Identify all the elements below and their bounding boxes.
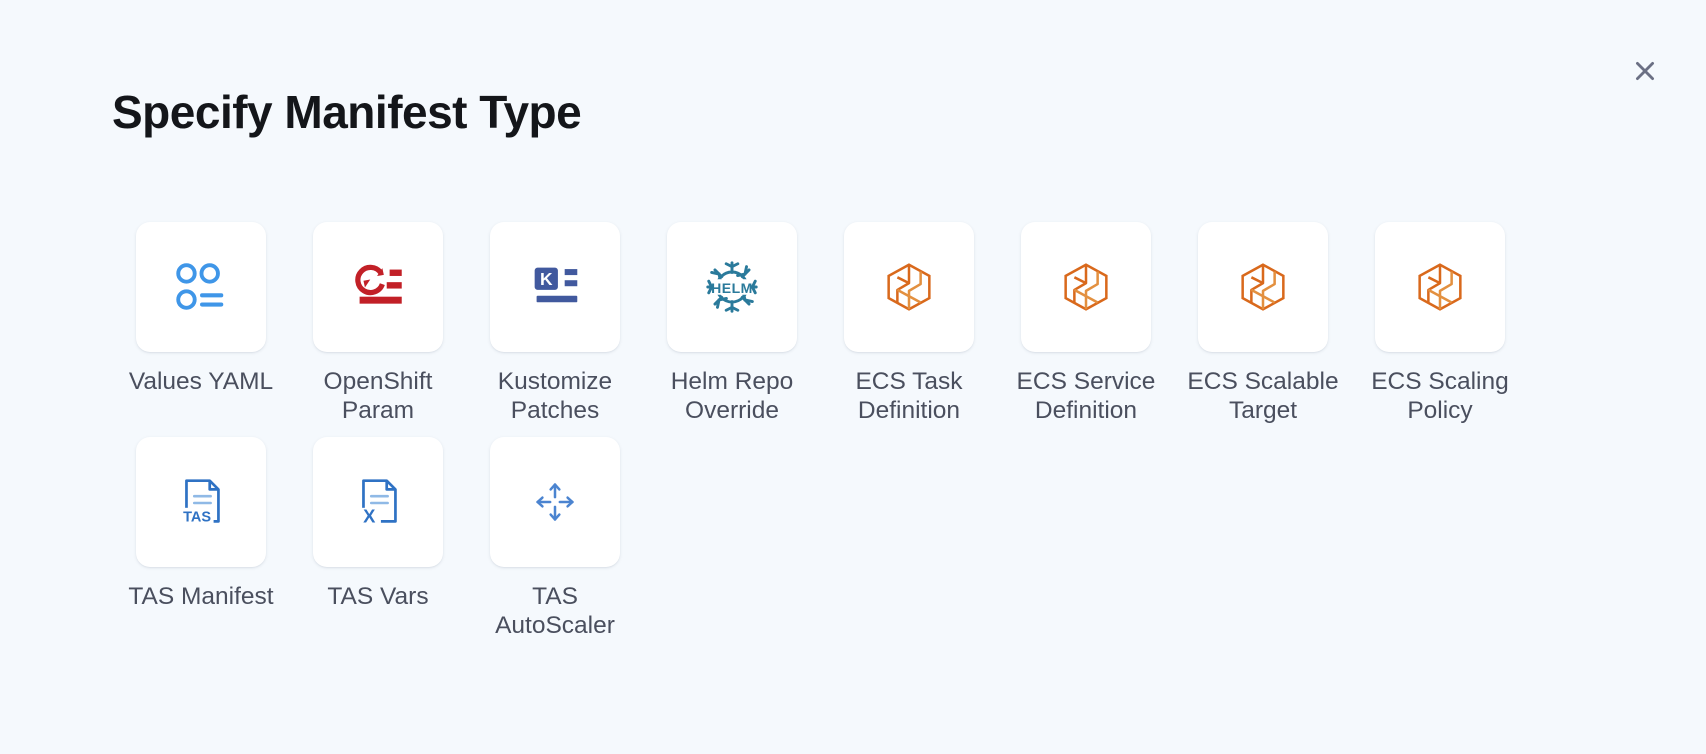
- tile-label: TAS Vars: [327, 583, 428, 612]
- tile-card: [1375, 222, 1505, 352]
- tile-label: ECS Scaling Policy: [1364, 368, 1516, 425]
- tile-label: ECS Scalable Target: [1187, 368, 1339, 425]
- tile-card: [136, 222, 266, 352]
- ecs-icon: [878, 256, 940, 318]
- tile-card: [1198, 222, 1328, 352]
- tile-card: TAS: [136, 437, 266, 567]
- ecs-icon: [1232, 256, 1294, 318]
- tile-card: [844, 222, 974, 352]
- values-yaml-icon: [170, 256, 232, 318]
- close-icon: [1632, 58, 1658, 84]
- manifest-tile-ecs-service-definition[interactable]: ECS Service Definition: [998, 222, 1174, 425]
- tile-label: ECS Service Definition: [1010, 368, 1162, 425]
- tile-card: [313, 222, 443, 352]
- svg-text:X: X: [363, 506, 376, 527]
- manifest-tile-ecs-scalable-target[interactable]: ECS Scalable Target: [1175, 222, 1351, 425]
- tile-label: OpenShift Param: [302, 368, 454, 425]
- svg-text:TAS: TAS: [183, 510, 211, 526]
- tile-label: Kustomize Patches: [479, 368, 631, 425]
- tile-card: K: [490, 222, 620, 352]
- manifest-tile-openshift-param[interactable]: OpenShift Param: [290, 222, 466, 425]
- manifest-tile-kustomize-patches[interactable]: K Kustomize Patches: [467, 222, 643, 425]
- manifest-tile-values-yaml[interactable]: Values YAML: [113, 222, 289, 425]
- manifest-tile-ecs-task-definition[interactable]: ECS Task Definition: [821, 222, 997, 425]
- ecs-icon: [1409, 256, 1471, 318]
- manifest-tile-tas-autoscaler[interactable]: TAS AutoScaler: [467, 437, 643, 640]
- manifest-tile-helm-repo-override[interactable]: HELM Helm Repo Override: [644, 222, 820, 425]
- kustomize-icon: K: [524, 256, 586, 318]
- ecs-icon: [1055, 256, 1117, 318]
- specify-manifest-type-dialog: Specify Manifest Type Values YAML: [0, 0, 1706, 754]
- tas-manifest-icon: TAS: [170, 471, 232, 533]
- tile-card: HELM: [667, 222, 797, 352]
- tile-card: [1021, 222, 1151, 352]
- manifest-tile-tas-manifest[interactable]: TAS TAS Manifest: [113, 437, 289, 640]
- tile-label: TAS Manifest: [128, 583, 273, 612]
- tile-label: Values YAML: [129, 368, 273, 397]
- manifest-type-grid: Values YAML OpenShift Param: [113, 222, 1533, 653]
- svg-text:HELM: HELM: [711, 280, 753, 296]
- tas-autoscaler-icon: [524, 471, 586, 533]
- tile-label: TAS AutoScaler: [479, 583, 631, 640]
- tile-label: Helm Repo Override: [656, 368, 808, 425]
- manifest-tile-tas-vars[interactable]: X TAS Vars: [290, 437, 466, 640]
- close-button[interactable]: [1622, 48, 1668, 94]
- svg-text:K: K: [540, 269, 553, 289]
- tas-vars-icon: X: [347, 471, 409, 533]
- page-title: Specify Manifest Type: [112, 86, 581, 139]
- tile-card: [490, 437, 620, 567]
- tile-card: X: [313, 437, 443, 567]
- tile-label: ECS Task Definition: [833, 368, 985, 425]
- openshift-icon: [347, 256, 409, 318]
- helm-icon: HELM: [701, 256, 763, 318]
- manifest-tile-ecs-scaling-policy[interactable]: ECS Scaling Policy: [1352, 222, 1528, 425]
